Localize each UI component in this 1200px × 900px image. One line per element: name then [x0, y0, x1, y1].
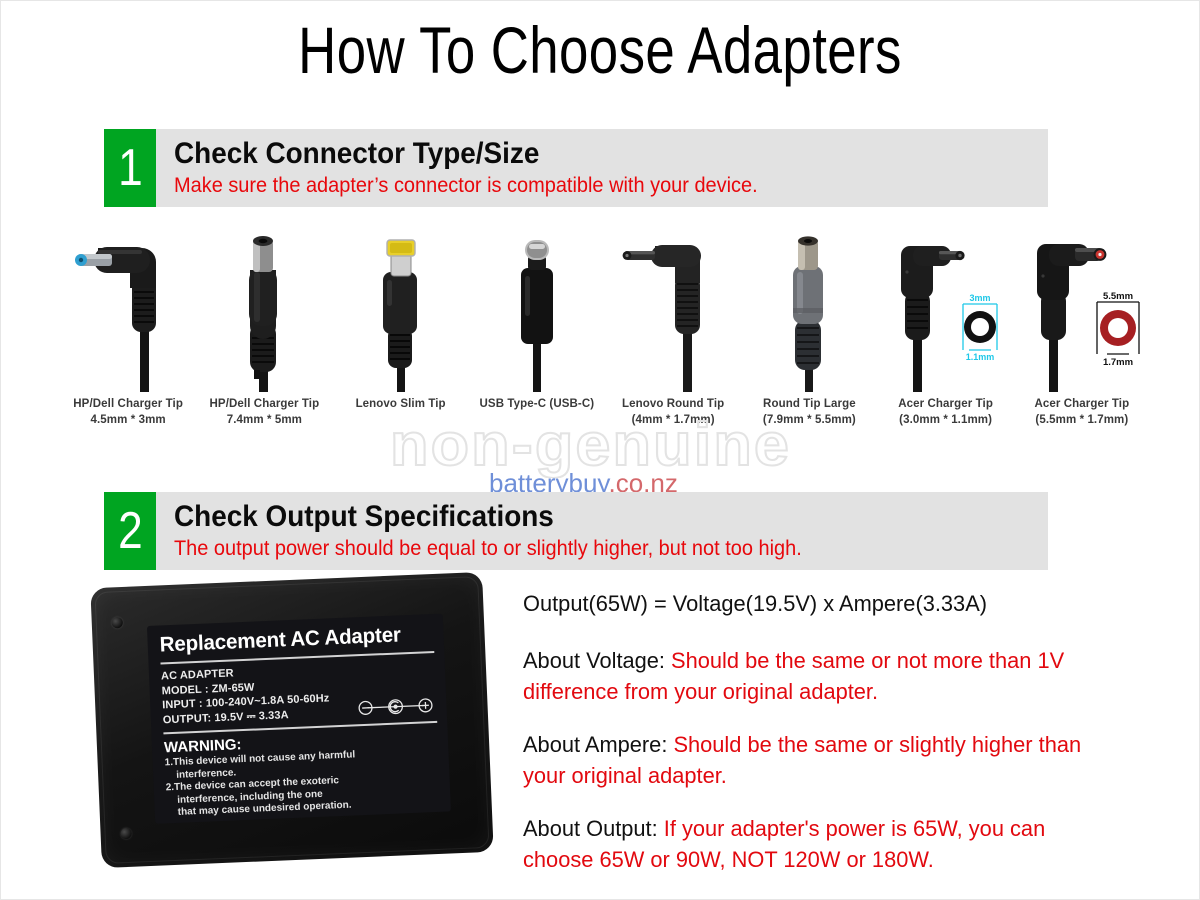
connector-caption-hp-dell-4-5mm: HP/Dell Charger Tip 4.5mm * 3mm: [73, 396, 183, 428]
section-2-header: 2 Check Output Specifications The output…: [104, 492, 1048, 570]
connector-item-acer-3mm[interactable]: 3mm 1.1mm Acer Charger Tip (3.0mm * 1.1m…: [878, 232, 1014, 454]
connector-caption-lenovo-slim: Lenovo Slim Tip: [356, 396, 446, 412]
svg-text:3mm: 3mm: [969, 293, 990, 303]
connector-item-usb-c[interactable]: USB Type-C (USB-C): [469, 232, 605, 454]
connector-name: USB Type-C (USB-C): [480, 396, 595, 412]
output-spec-text: Output(65W) = Voltage(19.5V) x Ampere(3.…: [523, 588, 1123, 875]
adapter-label-title: Replacement AC Adapter: [159, 622, 428, 657]
adapter-spec-block: AC ADAPTER MODEL : ZM-65W INPUT : 100-24…: [161, 658, 437, 727]
divider: [160, 651, 434, 664]
section-1-badge: 1: [104, 129, 156, 207]
section-1-text: Check Connector Type/Size Make sure the …: [156, 129, 788, 207]
connector-caption-lenovo-round: Lenovo Round Tip (4mm * 1.7mm): [622, 396, 724, 428]
adapter-input: INPUT : 100-240V~1.8A 50-60Hz: [162, 687, 436, 713]
page-title: How To Choose Adapters: [120, 14, 1080, 86]
adapter-body: Replacement AC Adapter AC ADAPTER MODEL …: [90, 572, 493, 868]
adapter-type: AC ADAPTER: [161, 658, 435, 684]
warning-line: interference, including the one: [166, 784, 440, 808]
connector-size: (7.9mm * 5.5mm): [763, 412, 856, 428]
warning-line: 1.This device will not cause any harmful: [164, 746, 438, 770]
connector-size: 4.5mm * 3mm: [73, 412, 183, 428]
about-voltage: About Voltage: Should be the same or not…: [523, 645, 1105, 707]
connector-image-round-large: [741, 232, 877, 392]
connector-caption-hp-dell-7-4mm: HP/Dell Charger Tip 7.4mm * 5mm: [210, 396, 320, 428]
connector-name: HP/Dell Charger Tip: [73, 396, 183, 412]
section-2-title: Check Output Specifications: [174, 500, 789, 534]
section-1-header: 1 Check Connector Type/Size Make sure th…: [104, 129, 1048, 207]
section-2-badge: 2: [104, 492, 156, 570]
screw-icon: [112, 617, 123, 628]
connector-image-hp-dell-7-4mm: [196, 232, 332, 392]
about-ampere: About Ampere: Should be the same or slig…: [523, 729, 1105, 791]
warning-line: that may cause undesired operation.: [167, 796, 441, 820]
warning-title: WARNING:: [164, 728, 439, 757]
connector-image-usb-c: [469, 232, 605, 392]
section-2-text: Check Output Specifications The output p…: [156, 492, 835, 570]
connector-name: Lenovo Slim Tip: [356, 396, 446, 412]
connector-image-hp-dell-4-5mm: [60, 232, 196, 392]
about-output-label: About Output:: [523, 816, 664, 841]
section-1-title: Check Connector Type/Size: [174, 137, 745, 171]
about-output: About Output: If your adapter's power is…: [523, 813, 1105, 875]
section-1-subtitle: Make sure the adapter’s connector is com…: [174, 173, 758, 199]
connector-image-acer-3mm: 3mm 1.1mm: [878, 232, 1014, 392]
connector-caption-round-large: Round Tip Large (7.9mm * 5.5mm): [763, 396, 856, 428]
connector-name: Acer Charger Tip: [1035, 396, 1130, 412]
connector-size: (4mm * 1.7mm): [622, 412, 724, 428]
section-2-number: 2: [118, 505, 143, 557]
connector-item-lenovo-round[interactable]: Lenovo Round Tip (4mm * 1.7mm): [605, 232, 741, 454]
connector-caption-acer-3mm: Acer Charger Tip (3.0mm * 1.1mm): [898, 396, 993, 428]
adapter-label: Replacement AC Adapter AC ADAPTER MODEL …: [147, 614, 451, 824]
polarity-icon: [356, 696, 435, 717]
connector-caption-usb-c: USB Type-C (USB-C): [480, 396, 595, 412]
connector-name: Round Tip Large: [763, 396, 856, 412]
connector-name: Acer Charger Tip: [898, 396, 993, 412]
warning-list: 1.This device will not cause any harmful…: [164, 746, 440, 820]
output-equation: Output(65W) = Voltage(19.5V) x Ampere(3.…: [523, 588, 1105, 619]
connector-item-round-large[interactable]: Round Tip Large (7.9mm * 5.5mm): [741, 232, 877, 454]
connector-image-acer-5-5mm: 5.5mm 1.7mm: [1014, 232, 1150, 392]
adapter-output: OUTPUT: 19.5V ⎓ 3.33A: [163, 701, 437, 727]
svg-text:1.7mm: 1.7mm: [1103, 357, 1133, 368]
dimension-callout-5-5mm: 5.5mm 1.7mm: [1097, 291, 1139, 368]
connector-caption-acer-5-5mm: Acer Charger Tip (5.5mm * 1.7mm): [1035, 396, 1130, 428]
adapter-model: MODEL : ZM-65W: [161, 672, 435, 698]
divider: [163, 721, 437, 734]
connector-item-acer-5-5mm[interactable]: 5.5mm 1.7mm Acer Charger Tip (5.5mm * 1.…: [1014, 232, 1150, 454]
connector-item-lenovo-slim[interactable]: Lenovo Slim Tip: [333, 232, 469, 454]
about-ampere-label: About Ampere:: [523, 732, 673, 757]
svg-text:1.1mm: 1.1mm: [965, 352, 994, 362]
connector-size: 7.4mm * 5mm: [210, 412, 320, 428]
connector-item-hp-dell-7-4mm[interactable]: HP/Dell Charger Tip 7.4mm * 5mm: [196, 232, 332, 454]
connector-item-hp-dell-4-5mm[interactable]: HP/Dell Charger Tip 4.5mm * 3mm: [60, 232, 196, 454]
connector-name: HP/Dell Charger Tip: [210, 396, 320, 412]
connector-image-lenovo-round: [605, 232, 741, 392]
warning-line: interference.: [165, 758, 439, 782]
infographic-page: How To Choose Adapters 1 Check Connector…: [0, 0, 1200, 900]
svg-text:5.5mm: 5.5mm: [1103, 291, 1133, 302]
dimension-callout-3mm: 3mm 1.1mm: [963, 293, 997, 362]
section-1-number: 1: [118, 142, 143, 194]
warning-line: 2.The device can accept the exoteric: [166, 771, 440, 795]
connector-gallery: HP/Dell Charger Tip 4.5mm * 3mm: [60, 232, 1150, 454]
about-voltage-label: About Voltage:: [523, 648, 671, 673]
connector-image-lenovo-slim: [333, 232, 469, 392]
connector-name: Lenovo Round Tip: [622, 396, 724, 412]
section-2-subtitle: The output power should be equal to or s…: [174, 536, 802, 562]
connector-size: (3.0mm * 1.1mm): [898, 412, 993, 428]
connector-size: (5.5mm * 1.7mm): [1035, 412, 1130, 428]
screw-icon: [120, 828, 131, 839]
adapter-photo: Replacement AC Adapter AC ADAPTER MODEL …: [88, 572, 498, 882]
